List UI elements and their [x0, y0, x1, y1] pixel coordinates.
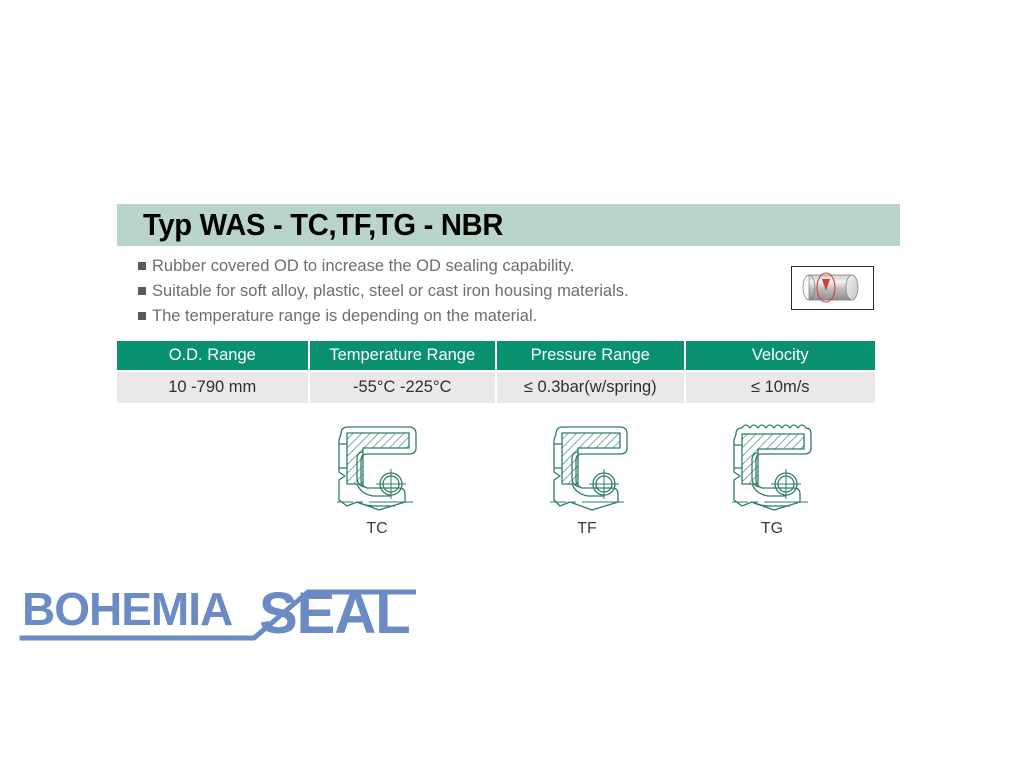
- cell-temperature-range: -55°C -225°C: [310, 372, 496, 403]
- list-item: Rubber covered OD to increase the OD sea…: [138, 256, 758, 278]
- feature-text: The temperature range is depending on th…: [152, 306, 537, 327]
- list-item: The temperature range is depending on th…: [138, 306, 758, 328]
- diagram-label-tg: TG: [692, 520, 852, 538]
- diagram-label-tc: TC: [297, 520, 457, 538]
- seal-cross-section-tf-icon: [532, 418, 642, 518]
- page-title: Typ WAS - TC,TF,TG - NBR: [143, 207, 526, 243]
- title-band: Typ WAS - TC,TF,TG - NBR: [117, 204, 900, 246]
- cell-od-range: 10 -790 mm: [117, 372, 308, 403]
- bullet-square-icon: [138, 287, 146, 295]
- page-title-text: Typ WAS - TC,TF,TG - NBR: [143, 207, 503, 243]
- seal-cross-section-tc-icon: [317, 418, 437, 518]
- table-row: 10 -790 mm -55°C -225°C ≤ 0.3bar(w/sprin…: [117, 372, 875, 403]
- diagram-label-tf: TF: [507, 520, 667, 538]
- seal-diagram-tf: TF: [507, 418, 667, 538]
- seal-diagram-strip: TC: [117, 418, 875, 548]
- column-header-velocity: Velocity: [686, 341, 876, 370]
- feature-list: Rubber covered OD to increase the OD sea…: [138, 256, 758, 331]
- feature-text: Rubber covered OD to increase the OD sea…: [152, 256, 575, 277]
- list-item: Suitable for soft alloy, plastic, steel …: [138, 281, 758, 303]
- bullet-square-icon: [138, 312, 146, 320]
- logo-text-primary: BOHEMIA: [22, 583, 232, 635]
- rotating-shaft-icon: [791, 266, 874, 310]
- column-header-od-range: O.D. Range: [117, 341, 308, 370]
- column-header-pressure-range: Pressure Range: [497, 341, 684, 370]
- seal-cross-section-tg-icon: [712, 418, 832, 518]
- seal-diagram-tg: TG: [692, 418, 852, 538]
- column-header-temperature-range: Temperature Range: [310, 341, 496, 370]
- cell-velocity: ≤ 10m/s: [686, 372, 876, 403]
- rotating-shaft-graphic: [792, 267, 872, 308]
- spec-table: O.D. Range Temperature Range Pressure Ra…: [117, 341, 875, 403]
- bohemia-seal-logo: BOHEMIA SEAL: [16, 578, 416, 648]
- table-header-row: O.D. Range Temperature Range Pressure Ra…: [117, 341, 875, 370]
- bullet-square-icon: [138, 262, 146, 270]
- feature-text: Suitable for soft alloy, plastic, steel …: [152, 281, 629, 302]
- cell-pressure-range: ≤ 0.3bar(w/spring): [497, 372, 684, 403]
- seal-diagram-tc: TC: [297, 418, 457, 538]
- logo-graphic: BOHEMIA SEAL: [16, 578, 416, 648]
